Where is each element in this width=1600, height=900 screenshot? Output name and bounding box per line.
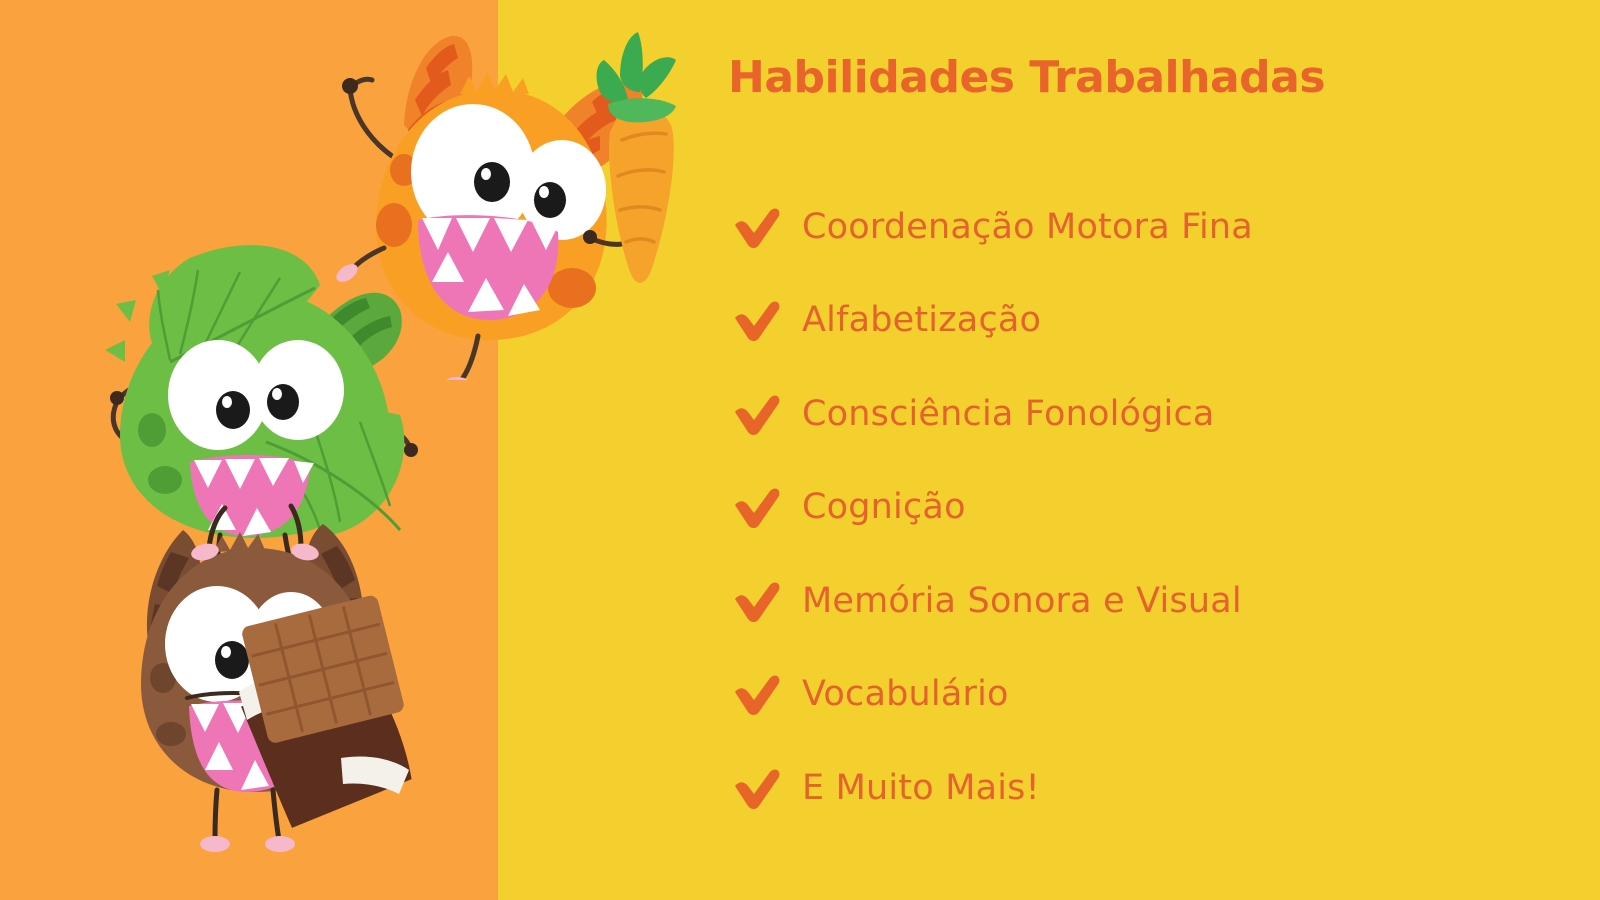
check-icon	[724, 298, 802, 342]
poster-stage: Habilidades Trabalhadas Coordenação Moto…	[0, 0, 1600, 900]
skill-label: Cognição	[802, 487, 966, 527]
list-item[interactable]: Alfabetização	[724, 274, 1600, 368]
brown-monster	[105, 500, 455, 860]
list-item[interactable]: Consciência Fonológica	[724, 367, 1600, 461]
page-title: Habilidades Trabalhadas	[728, 52, 1325, 103]
list-item[interactable]: Vocabulário	[724, 648, 1600, 742]
orange-monster	[300, 20, 700, 380]
skills-panel: Habilidades Trabalhadas Coordenação Moto…	[724, 0, 1600, 900]
skill-label: Alfabetização	[802, 300, 1041, 340]
check-icon	[724, 766, 802, 810]
check-icon	[724, 205, 802, 249]
check-icon	[724, 579, 802, 623]
skills-list: Coordenação Motora Fina Alfabetização Co…	[724, 180, 1600, 835]
skill-label: E Muito Mais!	[802, 768, 1040, 808]
list-item[interactable]: Memória Sonora e Visual	[724, 554, 1600, 648]
list-item[interactable]: E Muito Mais!	[724, 741, 1600, 835]
list-item[interactable]: Coordenação Motora Fina	[724, 180, 1600, 274]
skill-label: Memória Sonora e Visual	[802, 581, 1242, 621]
skill-label: Coordenação Motora Fina	[802, 207, 1253, 247]
check-icon	[724, 392, 802, 436]
list-item[interactable]: Cognição	[724, 461, 1600, 555]
skill-label: Consciência Fonológica	[802, 394, 1215, 434]
check-icon	[724, 672, 802, 716]
skill-label: Vocabulário	[802, 674, 1009, 714]
check-icon	[724, 485, 802, 529]
